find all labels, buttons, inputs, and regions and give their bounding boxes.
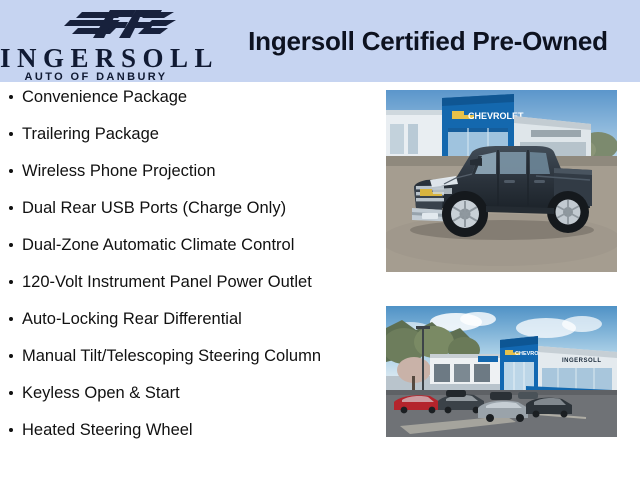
bullet-icon bbox=[9, 317, 13, 321]
dealer-logo: INGERSOLL AUTO OF DANBURY bbox=[0, 4, 196, 80]
list-item: Auto-Locking Rear Differential bbox=[0, 308, 372, 330]
list-item: 120-Volt Instrument Panel Power Outlet bbox=[0, 271, 372, 293]
list-item-label: Dual Rear USB Ports (Charge Only) bbox=[22, 199, 286, 217]
list-item: Manual Tilt/Telescoping Steering Column bbox=[0, 345, 372, 367]
list-item: Dual Rear USB Ports (Charge Only) bbox=[0, 197, 372, 219]
logo-wordmark: INGERSOLL bbox=[0, 44, 196, 72]
feature-list: Convenience Package Trailering Package W… bbox=[0, 86, 372, 456]
list-item: Heated Steering Wheel bbox=[0, 419, 372, 441]
svg-text:INGERSOLL: INGERSOLL bbox=[562, 358, 602, 364]
list-item-label: Manual Tilt/Telescoping Steering Column bbox=[22, 347, 321, 365]
list-item-label: Auto-Locking Rear Differential bbox=[22, 310, 242, 328]
list-item: Wireless Phone Projection bbox=[0, 160, 372, 182]
bullet-icon bbox=[9, 428, 13, 432]
bullet-icon bbox=[9, 95, 13, 99]
logo-tagline: AUTO OF DANBURY bbox=[0, 71, 192, 82]
bullet-icon bbox=[9, 132, 13, 136]
bullet-icon bbox=[9, 391, 13, 395]
page-title: Ingersoll Certified Pre-Owned bbox=[222, 26, 634, 57]
list-item-label: Trailering Package bbox=[22, 125, 159, 143]
ingersoll-wings-emblem-icon bbox=[52, 6, 176, 42]
vehicle-photo: CHEVROLET bbox=[386, 90, 617, 272]
list-item-label: 120-Volt Instrument Panel Power Outlet bbox=[22, 273, 312, 291]
bullet-icon bbox=[9, 206, 13, 210]
dealership-photo: CHEVROLET INGERSOLL bbox=[386, 306, 617, 437]
list-item: Convenience Package bbox=[0, 86, 372, 108]
list-item-label: Dual-Zone Automatic Climate Control bbox=[22, 236, 294, 254]
list-item-label: Keyless Open & Start bbox=[22, 384, 180, 402]
bullet-icon bbox=[9, 243, 13, 247]
bullet-icon bbox=[9, 169, 13, 173]
list-item: Trailering Package bbox=[0, 123, 372, 145]
header-banner: INGERSOLL AUTO OF DANBURY Ingersoll Cert… bbox=[0, 0, 640, 82]
list-item-label: Heated Steering Wheel bbox=[22, 421, 193, 439]
list-item-label: Convenience Package bbox=[22, 88, 187, 106]
list-item-label: Wireless Phone Projection bbox=[22, 162, 216, 180]
list-item: Dual-Zone Automatic Climate Control bbox=[0, 234, 372, 256]
bullet-icon bbox=[9, 354, 13, 358]
bullet-icon bbox=[9, 280, 13, 284]
list-item: Keyless Open & Start bbox=[0, 382, 372, 404]
